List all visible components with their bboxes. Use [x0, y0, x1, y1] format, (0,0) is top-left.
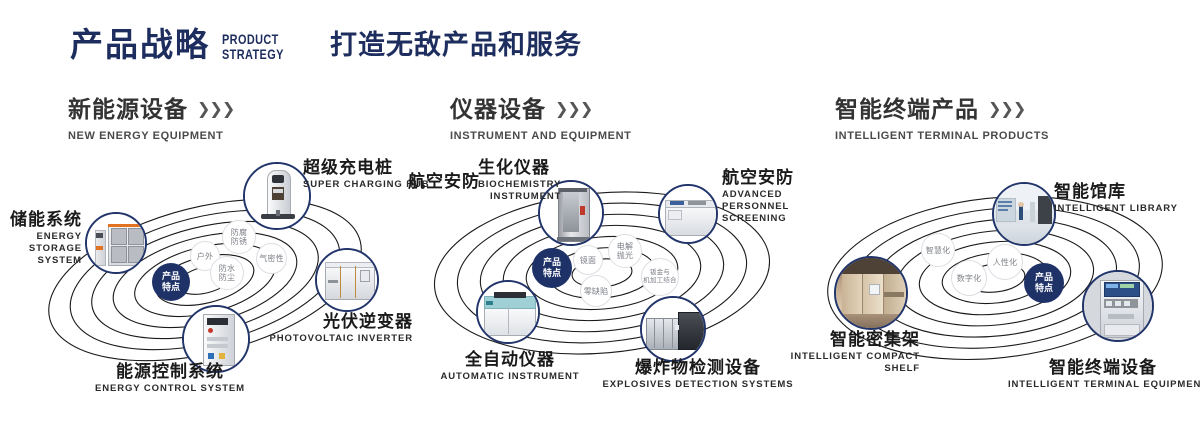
section-title-cn: 智能终端产品❯❯❯: [835, 98, 1049, 121]
self-service-kiosk-photo: [1084, 272, 1152, 340]
feature-bubble-waterproof: 防水 防尘: [210, 256, 244, 290]
node-intelligent-library[interactable]: [992, 182, 1056, 246]
label-cn: 光伏逆变器: [238, 312, 413, 331]
label-en: ENERGY STORAGE SYSTEM: [0, 231, 82, 267]
label-intelligent-library: 智能馆库 INTELLIGENT LIBRARY: [1054, 182, 1178, 215]
label-en: INTELLIGENT LIBRARY: [1054, 203, 1178, 215]
node-photovoltaic-inverter[interactable]: [315, 248, 379, 312]
node-automatic-instrument[interactable]: [476, 280, 540, 344]
node-super-charging-hub[interactable]: [243, 162, 311, 230]
label-automatic-instrument: 全自动仪器 AUTOMATIC INSTRUMENT: [420, 350, 600, 383]
page-title-cn: 产品战略: [70, 28, 210, 61]
energy-storage-cabinet-photo: [87, 214, 145, 272]
label-cn: 智能终端设备: [1008, 358, 1198, 377]
chevron-right-icon: ❯❯❯: [197, 102, 234, 118]
node-energy-storage-system[interactable]: [85, 212, 147, 274]
poster-header: 产品战略 PRODUCT STRATEGY 打造无敌产品和服务: [0, 0, 1200, 88]
chevron-right-icon: ❯❯❯: [555, 102, 592, 118]
cluster-new-energy: 产品特点 户外 防腐 防锈 防水 防尘 气密性 储能系统 ENERGY STOR…: [0, 150, 420, 410]
label-cn: 爆炸物检测设备: [578, 358, 818, 377]
section-title-intelligent-terminal: 智能终端产品❯❯❯ INTELLIGENT TERMINAL PRODUCTS: [835, 98, 1049, 142]
page-title-en-line2: STRATEGY: [222, 47, 284, 62]
section-title-en: INTELLIGENT TERMINAL PRODUCTS: [835, 130, 1049, 142]
label-cn: 全自动仪器: [420, 350, 600, 369]
label-explosives-detection: 爆炸物检测设备 EXPLOSIVES DETECTION SYSTEMS: [578, 358, 818, 391]
label-en: AUTOMATIC INSTRUMENT: [420, 371, 600, 383]
page-title-en: PRODUCT STRATEGY: [222, 32, 284, 62]
label-cn: 智能馆库: [1054, 182, 1178, 201]
label-energy-storage-system: 储能系统 ENERGY STORAGE SYSTEM: [0, 210, 82, 267]
feature-bubble-humanized: 人性化: [987, 244, 1023, 280]
cluster-instrument: 产品特点 镜面 电解 抛光 钣金与 机加工结合 零缺陷 航空安防 生化仪器 BI…: [400, 150, 820, 410]
core-bubble-text: 产品特点: [1035, 272, 1053, 294]
core-bubble-text: 产品特点: [543, 257, 561, 279]
chevron-right-icon: ❯❯❯: [988, 102, 1025, 118]
core-bubble-product-features: 产品特点: [1024, 263, 1064, 303]
section-title-cn: 仪器设备❯❯❯: [450, 98, 631, 121]
section-title-new-energy: 新能源设备❯❯❯ NEW ENERGY EQUIPMENT: [68, 98, 234, 142]
node-advanced-personnel-screening[interactable]: [658, 184, 718, 244]
poster-canvas: 产品战略 PRODUCT STRATEGY 打造无敌产品和服务 新能源设备❯❯❯…: [0, 0, 1200, 422]
label-en: PHOTOVOLTAIC INVERTER: [238, 333, 413, 345]
label-cn: 智能密集架: [790, 330, 920, 349]
label-cn: 生化仪器: [478, 158, 561, 177]
node-intelligent-terminal-equipment[interactable]: [1082, 270, 1154, 342]
feature-bubble-sheetmetal: 钣金与 机加工结合: [641, 258, 679, 296]
feature-bubble-digital: 数字化: [951, 260, 987, 296]
pv-inverter-cabinet-photo: [317, 250, 377, 310]
page-title-en-line1: PRODUCT: [222, 32, 284, 47]
node-explosives-detection[interactable]: [640, 296, 706, 362]
feature-bubble-anticorrosion: 防腐 防锈: [222, 220, 256, 254]
label-en: BIOCHEMISTRY INSTRUMENT: [478, 179, 561, 203]
library-interior-photo: [994, 184, 1054, 244]
section-title-instrument: 仪器设备❯❯❯ INSTRUMENT AND EQUIPMENT: [450, 98, 631, 142]
feature-bubble-mirror: 镜面: [573, 245, 603, 275]
explosives-detector-photo: [642, 298, 704, 360]
section-title-en: NEW ENERGY EQUIPMENT: [68, 130, 234, 142]
label-en: INTELLIGENT COMPACT SHELF: [790, 351, 920, 375]
label-en: EXPLOSIVES DETECTION SYSTEMS: [578, 379, 818, 391]
feature-bubble-intelligent: 智慧化: [921, 233, 955, 267]
label-intelligent-terminal-equipment: 智能终端设备 INTELLIGENT TERMINAL EQUIPMENT: [1008, 358, 1198, 391]
automatic-analyzer-photo: [478, 282, 538, 342]
label-cn: 储能系统: [0, 210, 82, 229]
feature-bubble-airtightness: 气密性: [256, 243, 287, 274]
cluster-intelligent-terminal: 产品特点 智慧化 数字化 人性化 智能馆库 INTELLIGENT LIBRAR…: [790, 150, 1200, 410]
label-cn: 航空安防: [400, 172, 480, 191]
feature-bubble-electropolishing: 电解 抛光: [608, 234, 642, 268]
label-en: INTELLIGENT TERMINAL EQUIPMENT: [1008, 379, 1198, 391]
compact-shelving-photo: [836, 258, 906, 328]
label-aviation-security-left: 航空安防: [400, 172, 480, 191]
label-intelligent-compact-shelf: 智能密集架 INTELLIGENT COMPACT SHELF: [790, 330, 920, 375]
ev-charging-pile-photo: [245, 164, 309, 228]
feature-bubble-zero-defect: 零缺陷: [580, 275, 612, 307]
core-bubble-product-features: 产品特点: [532, 248, 572, 288]
label-energy-control-system: 能源控制系统 ENERGY CONTROL SYSTEM: [60, 362, 280, 395]
section-title-cn: 新能源设备❯❯❯: [68, 98, 234, 121]
page-subtitle: 打造无敌产品和服务: [330, 32, 582, 59]
screening-machine-photo: [660, 186, 716, 242]
label-cn: 能源控制系统: [60, 362, 280, 381]
label-photovoltaic-inverter: 光伏逆变器 PHOTOVOLTAIC INVERTER: [238, 312, 413, 345]
core-bubble-text: 产品特点: [162, 271, 180, 293]
section-title-en: INSTRUMENT AND EQUIPMENT: [450, 130, 631, 142]
label-en: ENERGY CONTROL SYSTEM: [60, 383, 280, 395]
core-bubble-product-features: 产品特点: [152, 263, 190, 301]
label-biochemistry-instrument: 生化仪器 BIOCHEMISTRY INSTRUMENT: [478, 158, 561, 203]
node-intelligent-compact-shelf[interactable]: [834, 256, 908, 330]
